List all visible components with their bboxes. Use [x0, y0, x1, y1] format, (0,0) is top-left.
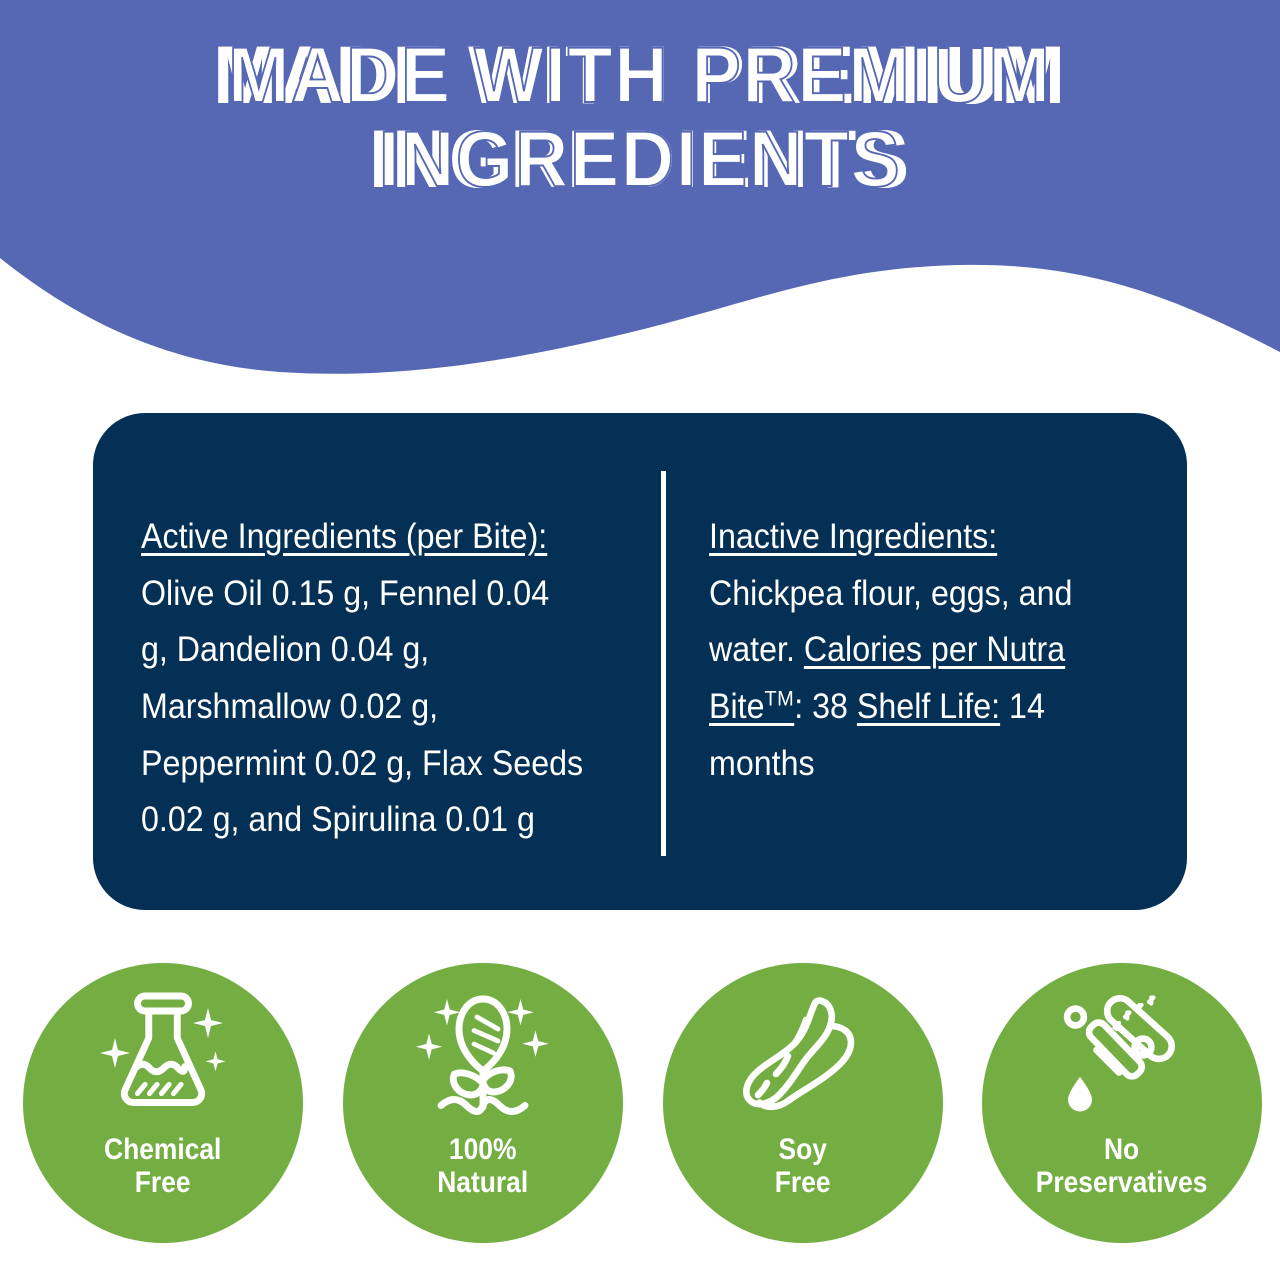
badge-chemical-free-label: Chemical Free [104, 1133, 221, 1199]
badge-no-preservatives-label: No Preservatives [1036, 1133, 1208, 1199]
badge-100-natural[interactable]: 100% Natural [343, 963, 623, 1243]
badge-100-natural-label: 100% Natural [438, 1133, 529, 1199]
active-ingredients-heading: Active Ingredients (per Bite): [141, 517, 547, 556]
badge-no-preservatives[interactable]: No Preservatives [982, 963, 1262, 1243]
header-wave-banner [0, 0, 1280, 390]
column-divider [661, 471, 666, 856]
shelf-life-heading: Shelf Life: [857, 687, 1000, 726]
active-ingredients-body: Olive Oil 0.15 g, Fennel 0.04 g, Dandeli… [141, 574, 583, 840]
dropper-pipette-icon [1047, 981, 1197, 1131]
sprout-leaf-sparkle-icon [408, 981, 558, 1131]
badge-row: Chemical Free [0, 963, 1280, 1248]
inactive-ingredients-heading: Inactive Ingredients: [709, 517, 997, 556]
calories-value: : 38 [794, 687, 848, 726]
soybean-pod-icon [728, 981, 878, 1131]
ingredients-card: Active Ingredients (per Bite): Olive Oil… [93, 413, 1187, 910]
trademark-symbol: TM [764, 685, 794, 710]
active-ingredients-column: Active Ingredients (per Bite): Olive Oil… [93, 413, 663, 849]
flask-sparkle-icon [88, 981, 238, 1131]
badge-chemical-free[interactable]: Chemical Free [23, 963, 303, 1243]
inactive-ingredients-column: Inactive Ingredients: Chickpea flour, eg… [663, 413, 1183, 792]
infographic-page: MADE WITH PREMIUM INGREDIENTS Active Ing… [0, 0, 1280, 1280]
badge-soy-free[interactable]: Soy Free [663, 963, 943, 1243]
badge-soy-free-label: Soy Free [775, 1133, 831, 1199]
